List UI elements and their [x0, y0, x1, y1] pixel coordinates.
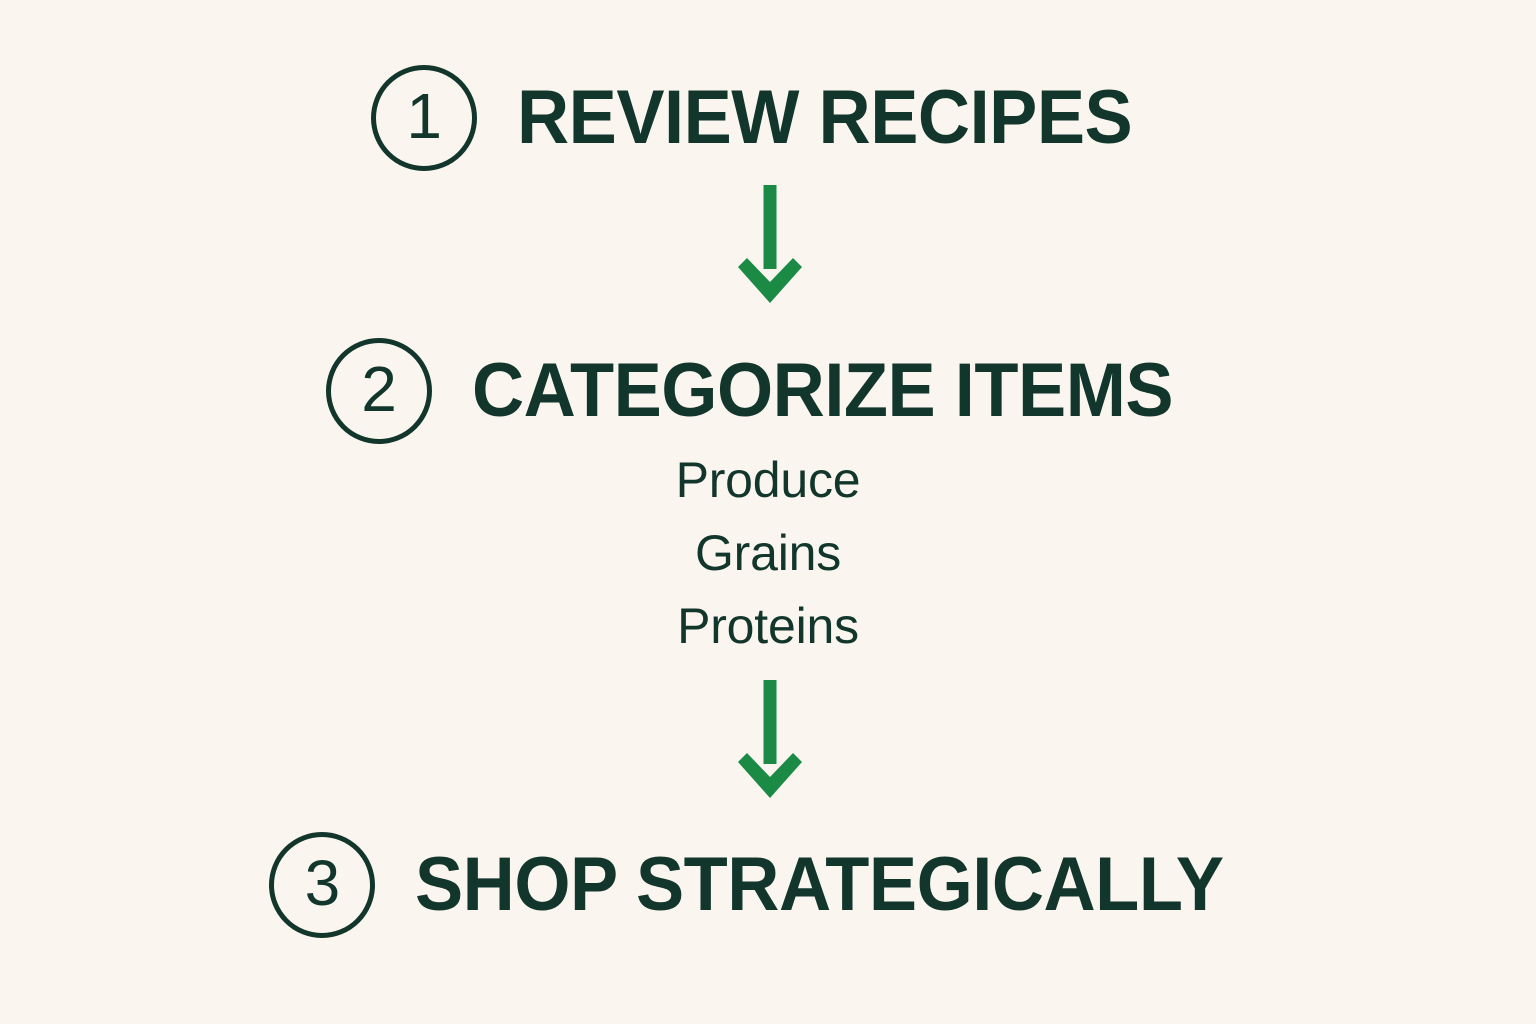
step-2: 2 CATEGORIZE ITEMS — [0, 338, 1536, 444]
step-3: 3 SHOP STRATEGICALLY — [0, 832, 1536, 938]
step-2-title: CATEGORIZE ITEMS — [472, 353, 1173, 429]
step-3-number: 3 — [305, 851, 341, 915]
arrow-down-icon-2 — [737, 680, 803, 798]
list-item: Produce — [676, 444, 861, 517]
step-1-number-badge: 1 — [371, 65, 477, 171]
step-1-number: 1 — [406, 84, 442, 148]
list-item: Proteins — [677, 590, 859, 663]
step-1-title: REVIEW RECIPES — [517, 80, 1132, 156]
process-flow-diagram: 1 REVIEW RECIPES 2 CATEGORIZE ITEMS Prod… — [0, 0, 1536, 1024]
step-3-title: SHOP STRATEGICALLY — [415, 847, 1223, 923]
step-2-category-list: Produce Grains Proteins — [0, 444, 1536, 663]
arrow-down-icon — [737, 680, 803, 798]
step-2-number: 2 — [361, 357, 397, 421]
step-1: 1 REVIEW RECIPES — [0, 65, 1536, 171]
arrow-down-icon-1 — [737, 185, 803, 303]
arrow-down-icon — [737, 185, 803, 303]
step-3-number-badge: 3 — [269, 832, 375, 938]
step-2-number-badge: 2 — [326, 338, 432, 444]
list-item: Grains — [695, 517, 841, 590]
